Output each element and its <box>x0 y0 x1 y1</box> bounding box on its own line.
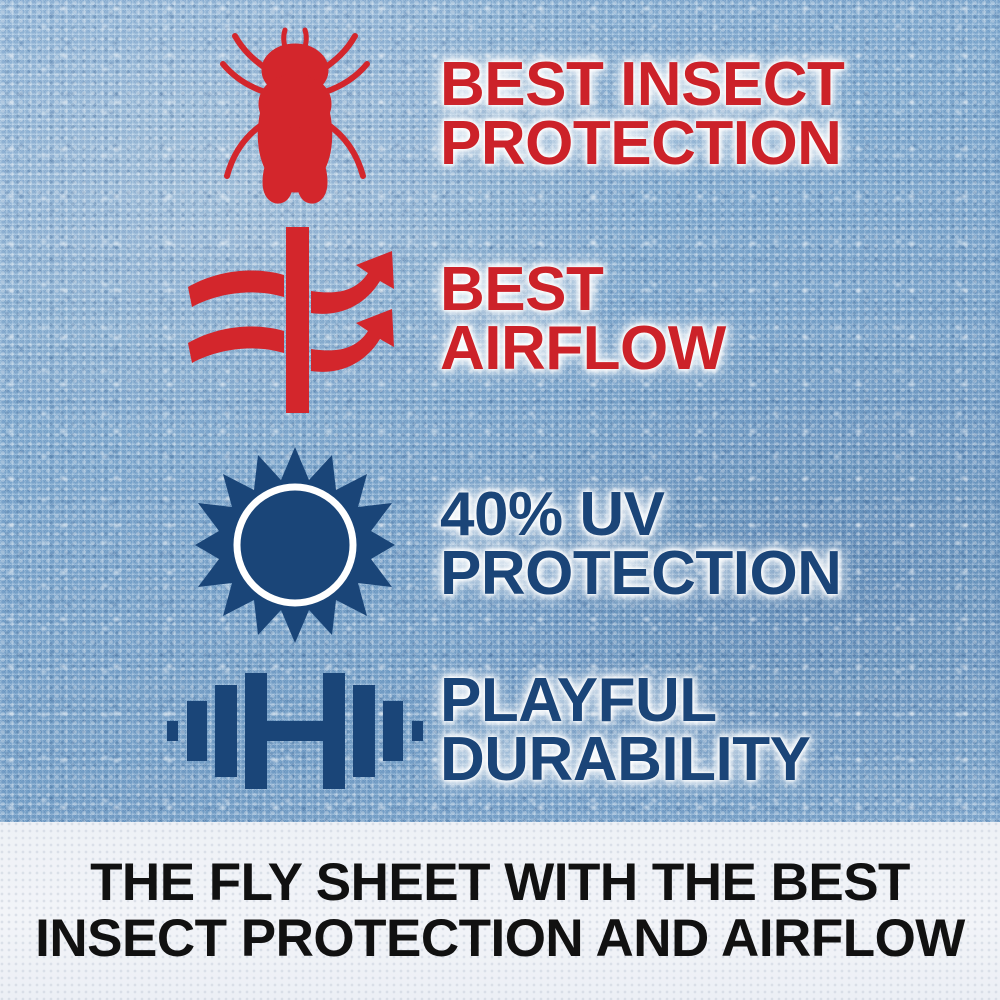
sun-icon <box>150 443 440 648</box>
feature-row-airflow: BEST AIRFLOW <box>150 222 1000 417</box>
feature-label-durability: PLAYFUL DURABILITY <box>440 672 810 790</box>
feature-label-line: BEST <box>440 261 726 320</box>
feature-row-durability: PLAYFUL DURABILITY <box>150 648 1000 813</box>
dumbbell-icon <box>150 656 440 806</box>
feature-label-line: PROTECTION <box>440 115 844 174</box>
feature-label-line: PLAYFUL <box>440 672 810 731</box>
feature-label-airflow: BEST AIRFLOW <box>440 261 726 379</box>
caption-line: INSECT PROTECTION AND AIRFLOW <box>35 911 965 967</box>
caption-line: THE FLY SHEET WITH THE BEST <box>90 855 910 911</box>
fly-icon <box>150 17 440 212</box>
airflow-arrows-icon <box>150 225 440 415</box>
caption-banner: THE FLY SHEET WITH THE BEST INSECT PROTE… <box>0 822 1000 1000</box>
feature-row-insect-protection: BEST INSECT PROTECTION <box>150 12 1000 217</box>
infographic-canvas: BEST INSECT PROTECTION <box>0 0 1000 1000</box>
feature-label-uv-protection: 40% UV PROTECTION <box>440 486 841 604</box>
feature-row-uv-protection: 40% UV PROTECTION <box>150 440 1000 650</box>
feature-label-line: AIRFLOW <box>440 320 726 379</box>
feature-label-line: DURABILITY <box>440 731 810 790</box>
feature-list: BEST INSECT PROTECTION <box>0 0 1000 822</box>
feature-label-insect-protection: BEST INSECT PROTECTION <box>440 56 844 174</box>
feature-label-line: BEST INSECT <box>440 56 844 115</box>
feature-label-line: PROTECTION <box>440 545 841 604</box>
feature-label-line: 40% UV <box>440 486 841 545</box>
